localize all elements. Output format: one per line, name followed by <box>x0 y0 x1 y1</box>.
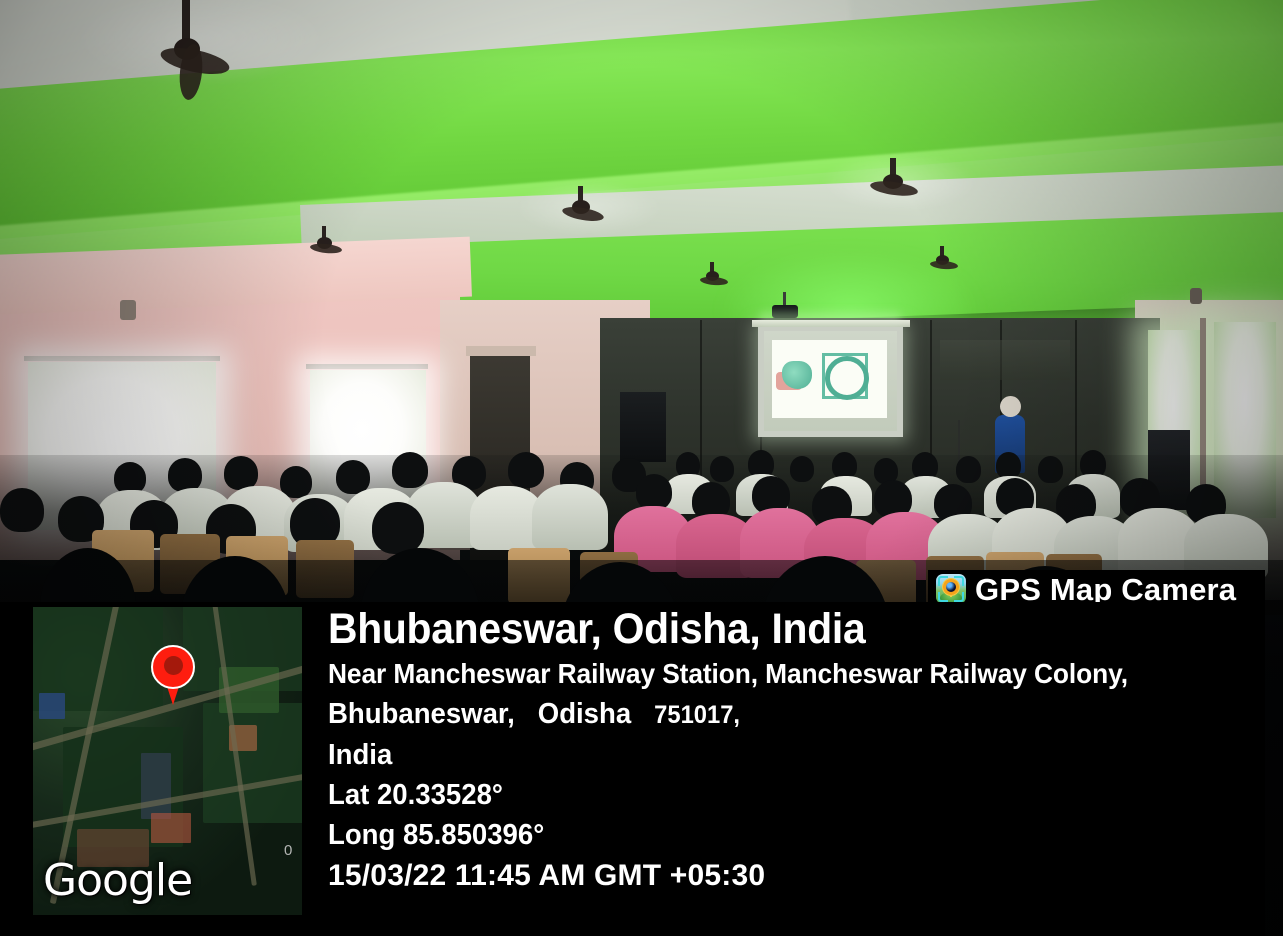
slide-shape-ring <box>825 356 869 400</box>
slide-shape-teal <box>782 361 812 389</box>
location-longitude: Long 85.850396° <box>328 815 1216 855</box>
location-title: Bhubaneswar, Odisha, India <box>328 604 1216 654</box>
map-building <box>141 753 171 819</box>
map-vegetation <box>203 703 302 823</box>
gps-map-camera-icon <box>936 574 966 604</box>
window-frame-left <box>24 356 220 361</box>
audience-head <box>508 452 544 488</box>
location-address-line-1: Near Mancheswar Railway Station, Manches… <box>328 654 1207 694</box>
presenter-head <box>1000 396 1021 417</box>
address-pincode: 751017, <box>654 701 740 729</box>
audience-head <box>1038 456 1063 483</box>
gps-map-camera-photo: GPS Map Camera Google 0 Bhubaneswar, Odi… <box>0 0 1283 936</box>
loudspeaker-box <box>620 392 666 462</box>
audience-head <box>790 456 814 482</box>
audience-head <box>710 456 734 482</box>
audience-head <box>636 474 672 510</box>
location-country: India <box>328 735 1216 775</box>
audience-torso <box>532 484 608 550</box>
audience-head <box>392 452 428 488</box>
google-watermark: Google <box>43 859 192 903</box>
location-pin <box>151 645 195 707</box>
address-city: Bhubaneswar, <box>328 698 515 730</box>
location-info-text: Bhubaneswar, Odisha, India Near Manchesw… <box>328 604 1263 897</box>
capture-datetime: 15/03/22 11:45 AM GMT +05:30 <box>328 855 1263 897</box>
audience-head <box>372 502 424 554</box>
audience-head <box>224 456 258 490</box>
map-building <box>39 693 65 719</box>
address-state: Odisha <box>538 698 631 730</box>
audience-head <box>0 488 44 532</box>
screen-rail <box>752 320 910 327</box>
map-thumbnail[interactable]: Google <box>33 607 302 915</box>
audience-head <box>832 452 857 479</box>
gps-map-camera-label: GPS Map Camera <box>975 574 1236 605</box>
location-address-line-2: Bhubaneswar, Odisha 751017, <box>328 694 1216 735</box>
map-building <box>151 813 191 843</box>
window-frame-left2 <box>306 364 428 369</box>
location-latitude: Lat 20.33528° <box>328 775 1216 815</box>
wall-cabinet <box>940 340 1070 380</box>
audience-head <box>168 458 202 492</box>
audience-head <box>956 456 981 483</box>
door-frame <box>466 346 536 356</box>
audience-head <box>996 452 1021 479</box>
